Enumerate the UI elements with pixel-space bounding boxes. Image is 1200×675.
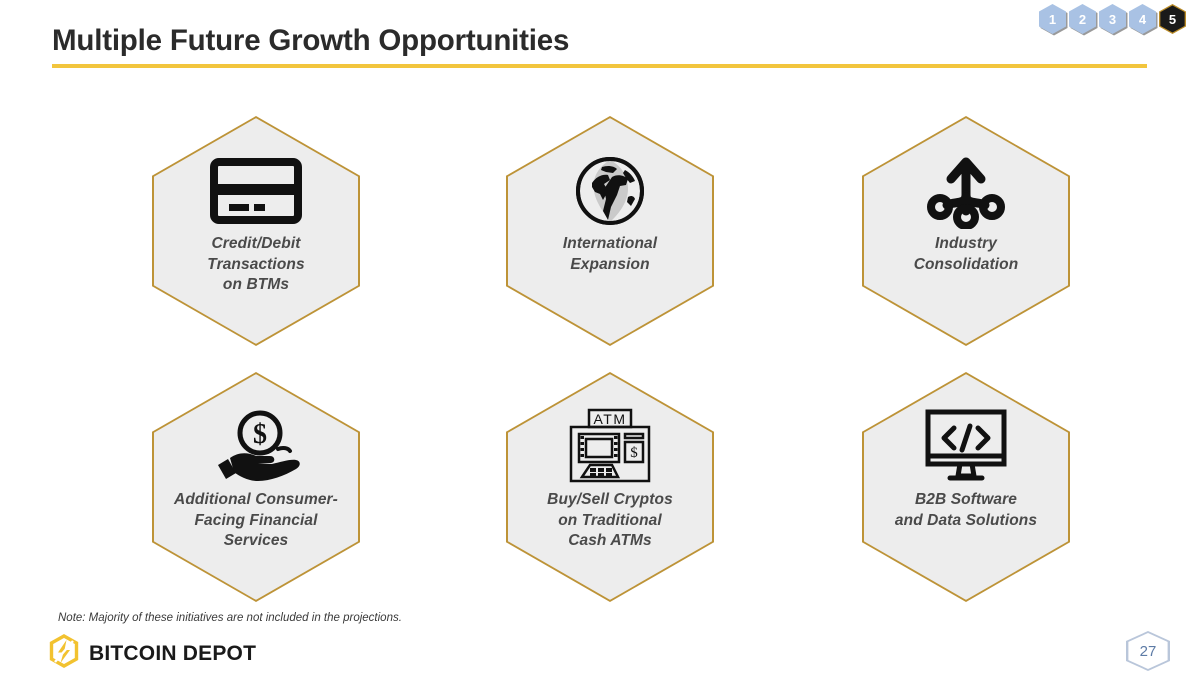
opportunity-label: Industry Consolidation [871,234,1061,275]
label-line: Additional Consumer- [161,490,351,511]
atm-machine-icon: ATM $ [560,410,660,484]
label-line: B2B Software [871,490,1061,511]
svg-text:$: $ [253,419,267,450]
page-number: 27 [1140,643,1157,660]
bitcoin-depot-hex-logo [48,634,80,673]
opportunity-hex-grid: Credit/Debit Transactions on BTMs [0,0,1200,675]
label-line: on BTMs [161,275,351,296]
globe-icon [572,154,648,228]
svg-text:$: $ [630,445,638,461]
credit-card-icon [210,154,302,228]
opportunity-label: Additional Consumer- Facing Financial Se… [161,490,351,552]
label-line: Transactions [161,255,351,276]
label-line: Facing Financial [161,511,351,532]
brand-logo: BITCOIN DEPOT [48,634,256,673]
label-line: on Traditional [515,511,705,532]
slide-root: Multiple Future Growth Opportunities 1 2… [0,0,1200,675]
hex-content: Industry Consolidation [862,116,1070,346]
opportunity-card-consumer-financial-services[interactable]: $ Additional Consumer- Facing Financial … [152,372,360,602]
label-line: and Data Solutions [871,511,1061,532]
label-line: Buy/Sell Cryptos [515,490,705,511]
title-divider [52,64,1147,68]
step-indicator-label: 4 [1139,13,1146,26]
hex-content: Credit/Debit Transactions on BTMs [152,116,360,346]
brand-name: BITCOIN DEPOT [89,642,256,666]
step-indicator-group: 1 2 3 4 5 [1039,4,1186,34]
page-title: Multiple Future Growth Opportunities [52,24,569,58]
step-indicator-label: 1 [1049,13,1056,26]
label-line: Credit/Debit [161,234,351,255]
opportunity-card-international-expansion[interactable]: International Expansion [506,116,714,346]
step-indicator-4[interactable]: 4 [1129,4,1156,34]
code-monitor-icon [920,410,1012,484]
step-indicator-2[interactable]: 2 [1069,4,1096,34]
footnote: Note: Majority of these initiatives are … [58,612,402,624]
label-line: Industry [871,234,1061,255]
opportunity-card-b2b-software[interactable]: B2B Software and Data Solutions [862,372,1070,602]
opportunity-card-credit-debit[interactable]: Credit/Debit Transactions on BTMs [152,116,360,346]
step-indicator-5[interactable]: 5 [1159,4,1186,34]
hand-holding-coin-icon: $ [204,410,308,484]
label-line: Services [161,531,351,552]
label-line: Cash ATMs [515,531,705,552]
opportunity-label: Credit/Debit Transactions on BTMs [161,234,351,296]
step-indicator-3[interactable]: 3 [1099,4,1126,34]
hex-content: ATM $ [506,372,714,602]
opportunity-label: International Expansion [515,234,705,275]
opportunity-label: B2B Software and Data Solutions [871,490,1061,531]
svg-text:ATM: ATM [593,411,626,427]
opportunity-label: Buy/Sell Cryptos on Traditional Cash ATM… [515,490,705,552]
label-line: Consolidation [871,255,1061,276]
opportunity-card-industry-consolidation[interactable]: Industry Consolidation [862,116,1070,346]
hex-content: International Expansion [506,116,714,346]
label-line: International [515,234,705,255]
hex-content: B2B Software and Data Solutions [862,372,1070,602]
hex-content: $ Additional Consumer- Facing Financial … [152,372,360,602]
page-number-badge: 27 [1126,631,1170,671]
step-indicator-label: 5 [1169,13,1176,26]
label-line: Expansion [515,255,705,276]
step-indicator-1[interactable]: 1 [1039,4,1066,34]
step-indicator-label: 2 [1079,13,1086,26]
step-indicator-label: 3 [1109,13,1116,26]
opportunity-card-cash-atms[interactable]: ATM $ [506,372,714,602]
merge-arrow-icon [925,154,1007,228]
